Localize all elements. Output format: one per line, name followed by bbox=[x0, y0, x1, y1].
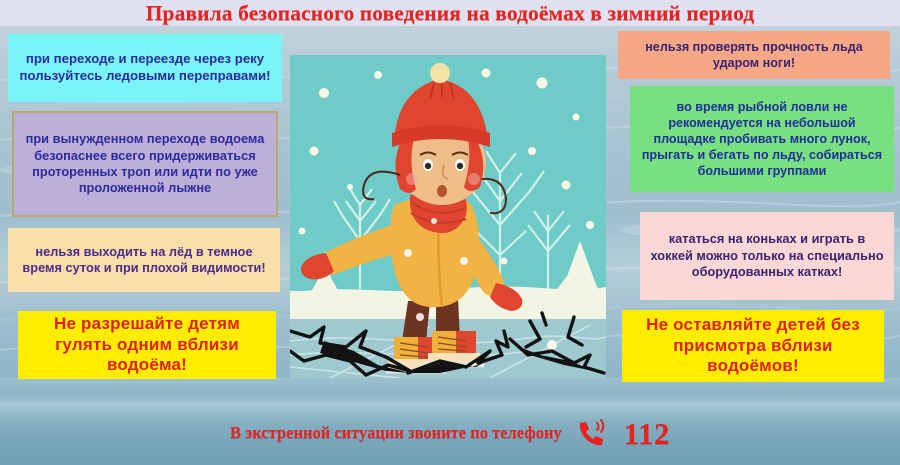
panel-fishing-rules: во время рыбной ловли не рекомендуется н… bbox=[630, 86, 894, 192]
safety-poster: Правила безопасного поведения на водоёма… bbox=[0, 0, 900, 465]
panel-fishing-rules-text: во время рыбной ловли не рекомендуется н… bbox=[630, 99, 894, 180]
panel-no-unsupervised-text: Не оставляйте детей без присмотра вблизи… bbox=[622, 315, 884, 376]
panel-no-kick-test: нельзя проверять прочность льда ударом н… bbox=[618, 31, 890, 79]
child-on-cracking-ice-illustration bbox=[290, 55, 606, 378]
panel-no-children-alone-text: Не разрешайте детям гулять одним вблизи … bbox=[18, 314, 276, 375]
panel-ice-crossing: при переходе и переезде через реку польз… bbox=[8, 34, 282, 102]
page-title: Правила безопасного поведения на водоёма… bbox=[0, 1, 900, 26]
panel-no-night-ice-text: нельзя выходить на лёд в темное время су… bbox=[8, 244, 280, 277]
panel-no-unsupervised: Не оставляйте детей без присмотра вблизи… bbox=[622, 310, 884, 382]
panel-no-children-alone: Не разрешайте детям гулять одним вблизи … bbox=[18, 311, 276, 379]
panel-no-night-ice: нельзя выходить на лёд в темное время су… bbox=[8, 228, 280, 292]
panel-ice-crossing-text: при переходе и переезде через реку польз… bbox=[8, 51, 282, 85]
ringing-phone-icon bbox=[576, 418, 610, 448]
panel-skating-rinks: кататься на коньках и играть в хоккей мо… bbox=[640, 212, 894, 300]
illustration-svg bbox=[290, 55, 606, 378]
panel-skating-rinks-text: кататься на коньках и играть в хоккей мо… bbox=[640, 231, 894, 280]
emergency-footer: В экстренной ситуации звоните по телефон… bbox=[0, 412, 900, 454]
panel-no-kick-test-text: нельзя проверять прочность льда ударом н… bbox=[618, 39, 890, 71]
emergency-number: 112 bbox=[624, 418, 670, 449]
panel-forced-crossing: при вынужденном переходе водоема безопас… bbox=[12, 111, 278, 217]
emergency-call-text: В экстренной ситуации звоните по телефон… bbox=[230, 423, 562, 443]
panel-forced-crossing-text: при вынужденном переходе водоема безопас… bbox=[14, 131, 276, 197]
